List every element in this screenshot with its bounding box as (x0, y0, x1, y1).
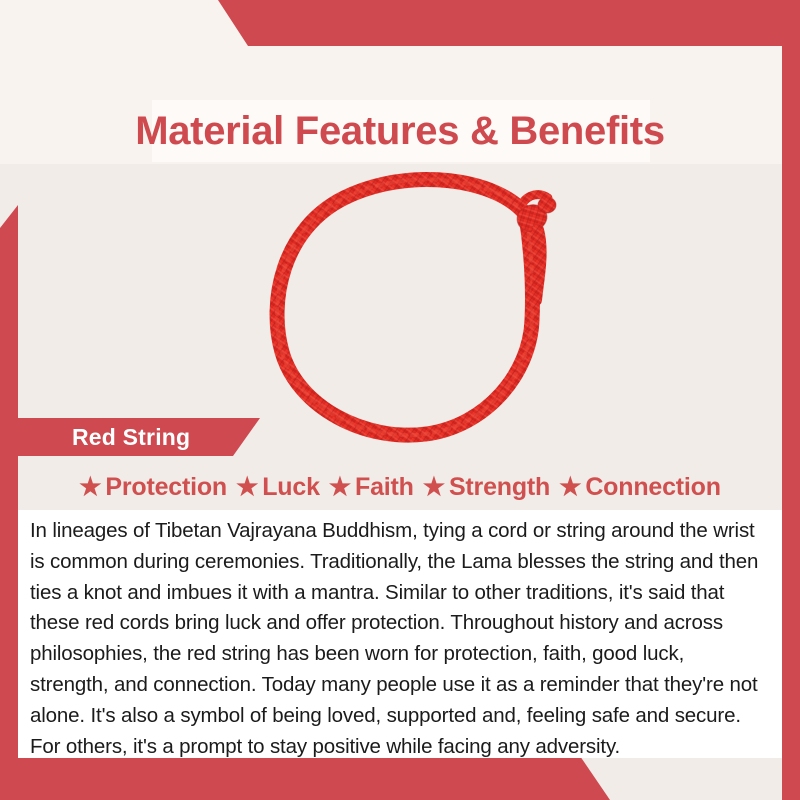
star-icon: ★ (329, 475, 351, 500)
feature-item-protection: ★ Protection (79, 473, 227, 502)
feature-label: Connection (585, 473, 721, 502)
star-icon: ★ (423, 475, 445, 500)
star-icon: ★ (79, 475, 101, 500)
cord-knot (514, 195, 556, 300)
description-text: In lineages of Tibetan Vajrayana Buddhis… (30, 516, 764, 762)
feature-label: Faith (355, 473, 414, 502)
star-icon: ★ (559, 475, 581, 500)
feature-item-connection: ★ Connection (559, 473, 721, 502)
feature-item-luck: ★ Luck (236, 473, 320, 502)
red-string-bracelet-illustration (248, 160, 578, 450)
description-panel: In lineages of Tibetan Vajrayana Buddhis… (18, 510, 782, 758)
feature-list: ★ Protection ★ Luck ★ Faith ★ Strength ★… (18, 466, 782, 508)
feature-label: Luck (262, 473, 320, 502)
feature-label: Strength (449, 473, 550, 502)
feature-label: Protection (105, 473, 227, 502)
page-title: Material Features & Benefits (0, 100, 800, 162)
product-image (248, 160, 578, 450)
feature-item-faith: ★ Faith (329, 473, 414, 502)
feature-item-strength: ★ Strength (423, 473, 550, 502)
star-icon: ★ (236, 475, 258, 500)
product-name-label: Red String (72, 418, 190, 456)
product-feature-poster: Material Features & Benefits (0, 0, 800, 800)
